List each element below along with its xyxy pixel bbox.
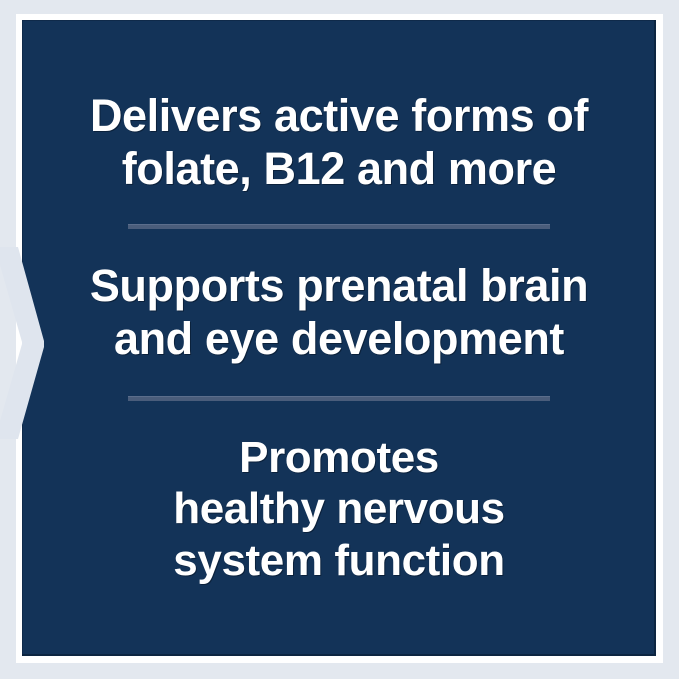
benefit-line: Supports prenatal brain (36, 260, 642, 313)
benefit-line: healthy nervous (36, 483, 642, 534)
benefits-list: Delivers active forms of folate, B12 and… (22, 20, 656, 656)
benefit-line: folate, B12 and more (36, 143, 642, 196)
benefit-line: Promotes (36, 432, 642, 483)
benefit-line: system function (36, 535, 642, 586)
chevron-right-icon (0, 243, 46, 443)
divider-2 (128, 396, 550, 401)
benefit-item-active-forms: Delivers active forms of folate, B12 and… (22, 90, 656, 195)
divider-1 (128, 224, 550, 229)
benefit-line: and eye development (36, 313, 642, 366)
benefit-item-prenatal-development: Supports prenatal brain and eye developm… (22, 260, 656, 365)
benefit-item-nervous-system: Promotes healthy nervous system function (22, 432, 656, 586)
benefit-line: Delivers active forms of (36, 90, 642, 143)
product-benefits-graphic: Delivers active forms of folate, B12 and… (0, 0, 679, 679)
